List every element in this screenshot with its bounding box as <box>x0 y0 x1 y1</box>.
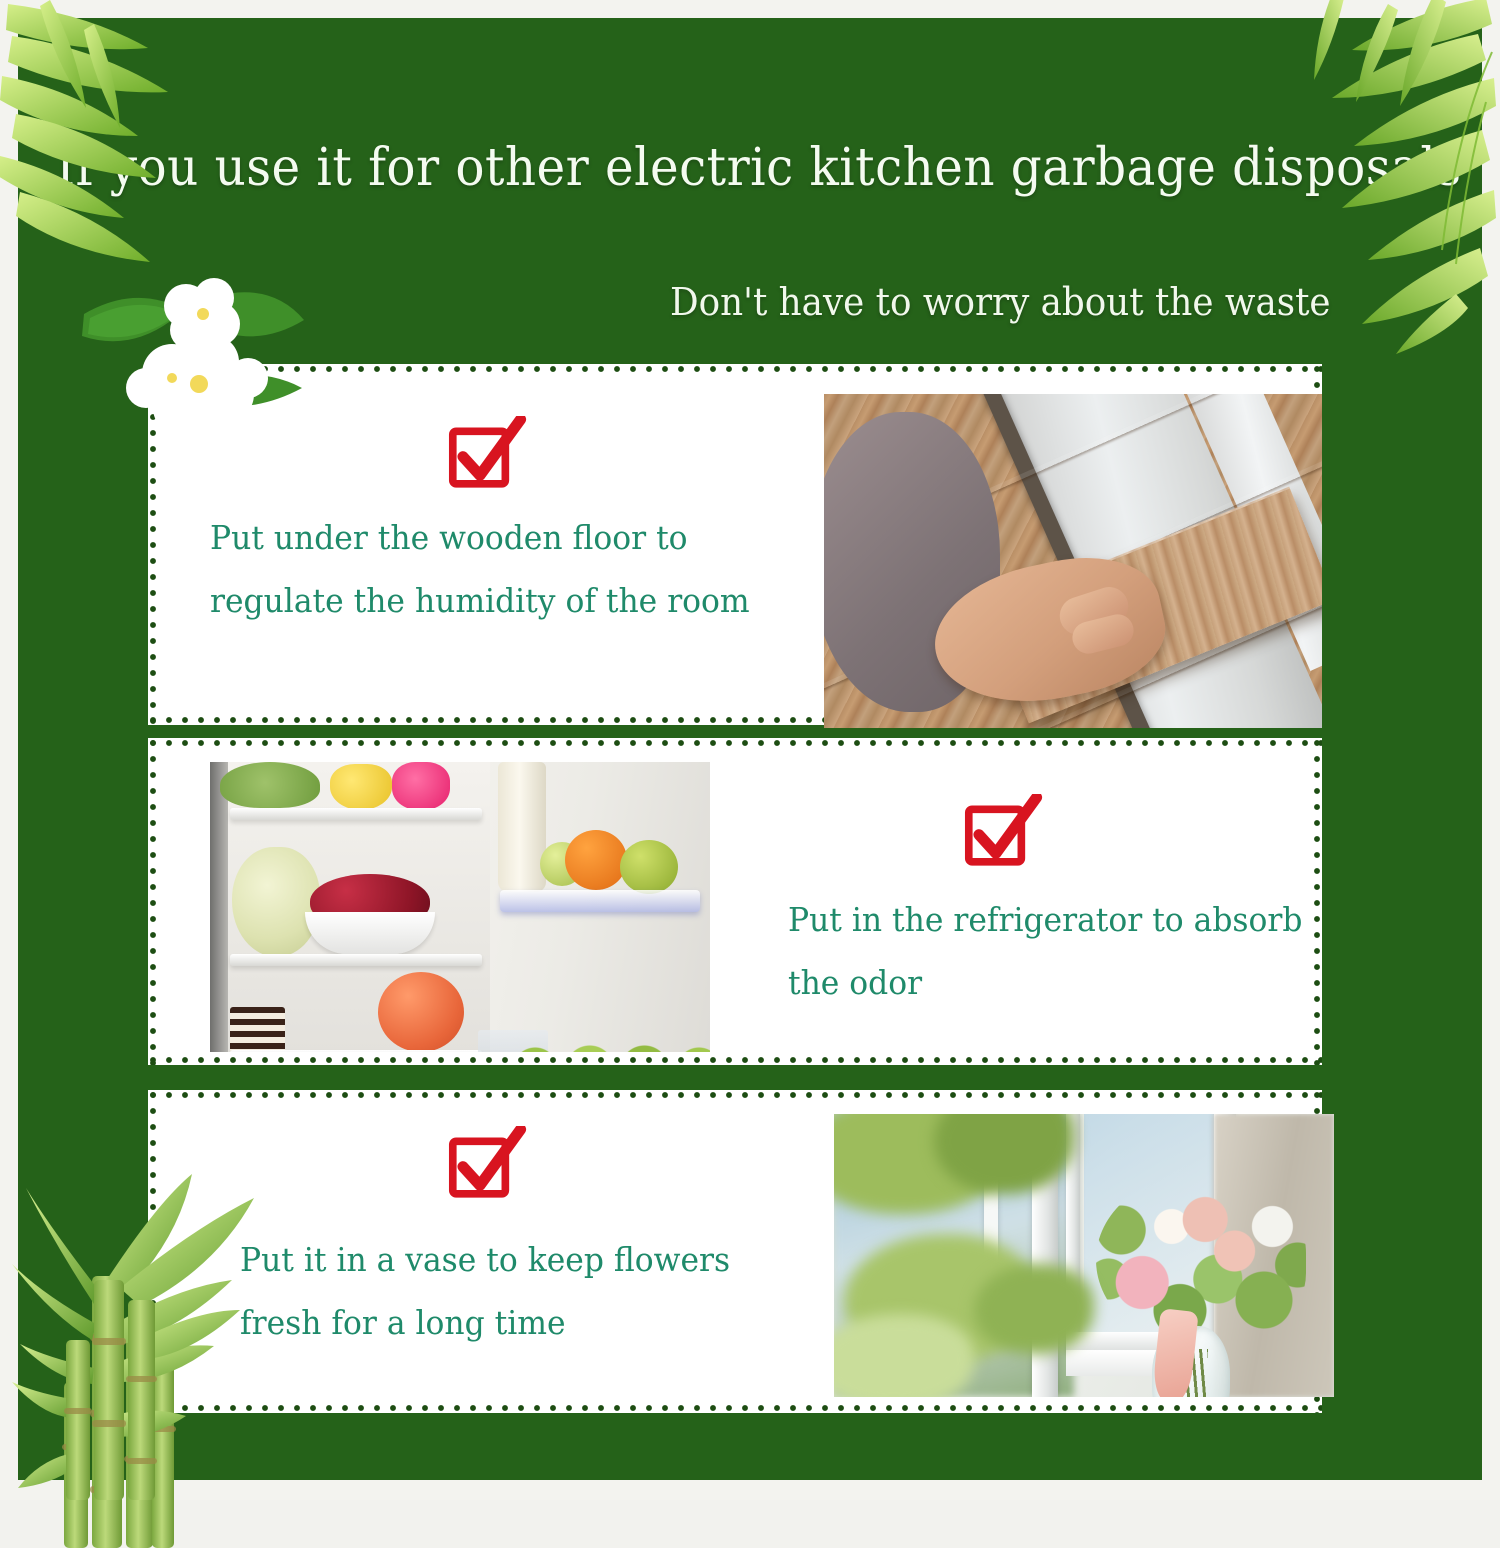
image-wooden-floor <box>824 394 1322 728</box>
card-refrigerator[interactable]: Put in the refrigerator to absorb the od… <box>148 738 1322 1065</box>
page-subtitle: Don't have to worry about the waste <box>670 280 1422 324</box>
card-line-1: Put in the refrigerator to absorb <box>788 888 1330 951</box>
checked-checkbox-icon <box>442 1126 528 1204</box>
card-text-refrigerator: Put in the refrigerator to absorb the od… <box>788 888 1330 1015</box>
checked-checkbox-icon <box>958 794 1044 872</box>
card-line-2: the odor <box>788 951 1330 1014</box>
card-text-vase: Put it in a vase to keep flowers fresh f… <box>240 1228 801 1355</box>
card-vase[interactable]: Put it in a vase to keep flowers fresh f… <box>148 1090 1322 1413</box>
green-panel: If you use it for other electric kitchen… <box>18 18 1482 1480</box>
card-line-2: regulate the humidity of the room <box>210 569 780 632</box>
card-line-1: Put it in a vase to keep flowers <box>240 1228 801 1291</box>
card-text-wooden-floor: Put under the wooden floor to regulate t… <box>210 506 780 633</box>
page-title: If you use it for other electric kitchen… <box>56 138 1377 198</box>
checked-checkbox-icon <box>442 416 528 494</box>
page-root: If you use it for other electric kitchen… <box>0 0 1500 1500</box>
image-refrigerator <box>210 762 710 1052</box>
card-wooden-floor[interactable]: Put under the wooden floor to regulate t… <box>148 364 1322 725</box>
card-line-2: fresh for a long time <box>240 1291 801 1354</box>
image-vase-window <box>834 1114 1334 1397</box>
card-line-1: Put under the wooden floor to <box>210 506 780 569</box>
